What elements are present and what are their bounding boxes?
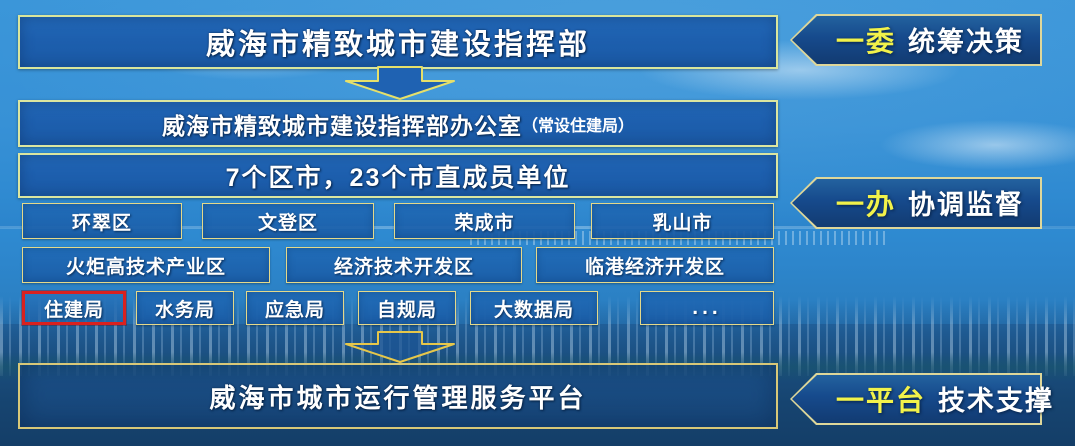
bureau-label: 自规局 (377, 295, 437, 322)
member-units-box[interactable]: 7个区市，23个市直成员单位 (18, 153, 778, 198)
zone-label: 经济技术开发区 (334, 252, 474, 279)
district-chip-rushan[interactable]: 乳山市 (591, 203, 774, 239)
zone-label: 临港经济开发区 (585, 252, 725, 279)
city-operation-platform-title: 威海市城市运行管理服务平台 (209, 378, 586, 415)
banner-key-text: 一办 (836, 189, 896, 220)
banner-desc-text: 协调监督 (908, 190, 1024, 220)
bureau-label: 应急局 (265, 295, 325, 322)
member-units-title: 7个区市，23个市直成员单位 (226, 158, 571, 194)
banner-one-office[interactable]: 一办协调监督 (790, 177, 1042, 229)
bureau-chip-housing-construction[interactable]: 住建局 (22, 291, 126, 325)
bureau-chip-natural-resources[interactable]: 自规局 (358, 291, 456, 325)
command-office-title: 威海市精致城市建设指挥部办公室 (162, 107, 522, 141)
banner-desc-text: 技术支撑 (938, 386, 1054, 416)
district-chip-wendeng[interactable]: 文登区 (202, 203, 374, 239)
zone-chip-torch-hi-tech[interactable]: 火炬高技术产业区 (22, 247, 270, 283)
banner-one-committee[interactable]: 一委统筹决策 (790, 14, 1042, 66)
banner-label: 一委统筹决策 (836, 20, 1024, 60)
zone-chip-economic-tech[interactable]: 经济技术开发区 (286, 247, 522, 283)
bureau-chip-water-affairs[interactable]: 水务局 (136, 291, 234, 325)
command-headquarters-title: 威海市精致城市建设指挥部 (206, 21, 590, 63)
bureau-label: ... (692, 296, 722, 320)
slide-canvas: 威海市精致城市建设指挥部 威海市精致城市建设指挥部办公室（常设住建局） 7个区市… (0, 0, 1075, 446)
banner-one-platform[interactable]: 一平台技术支撑 (790, 373, 1042, 425)
zone-chip-lingang-economic[interactable]: 临港经济开发区 (536, 247, 774, 283)
banner-label: 一平台技术支撑 (836, 379, 1054, 419)
bureau-chip-more[interactable]: ... (640, 291, 774, 325)
banner-key-text: 一平台 (836, 385, 926, 416)
bureau-label: 水务局 (155, 295, 215, 322)
arrow-command-to-office-icon (345, 66, 455, 100)
banner-key-text: 一委 (836, 26, 896, 57)
command-office-note: （常设住建局） (522, 112, 634, 136)
district-chip-huancui[interactable]: 环翠区 (22, 203, 182, 239)
command-headquarters-box[interactable]: 威海市精致城市建设指挥部 (18, 15, 778, 69)
bureau-label: 住建局 (44, 295, 104, 322)
district-label: 荣成市 (454, 208, 514, 235)
banner-label: 一办协调监督 (836, 183, 1024, 223)
city-operation-platform-box[interactable]: 威海市城市运行管理服务平台 (18, 363, 778, 429)
zone-label: 火炬高技术产业区 (66, 252, 226, 279)
district-label: 乳山市 (652, 208, 712, 235)
bureau-chip-big-data[interactable]: 大数据局 (470, 291, 598, 325)
bureau-label: 大数据局 (494, 295, 574, 322)
district-chip-rongcheng[interactable]: 荣成市 (394, 203, 575, 239)
banner-desc-text: 统筹决策 (908, 27, 1024, 57)
district-label: 文登区 (258, 208, 318, 235)
arrow-members-to-platform-icon (345, 331, 455, 363)
command-office-box[interactable]: 威海市精致城市建设指挥部办公室（常设住建局） (18, 100, 778, 147)
bureau-chip-emergency[interactable]: 应急局 (246, 291, 344, 325)
district-label: 环翠区 (72, 208, 132, 235)
